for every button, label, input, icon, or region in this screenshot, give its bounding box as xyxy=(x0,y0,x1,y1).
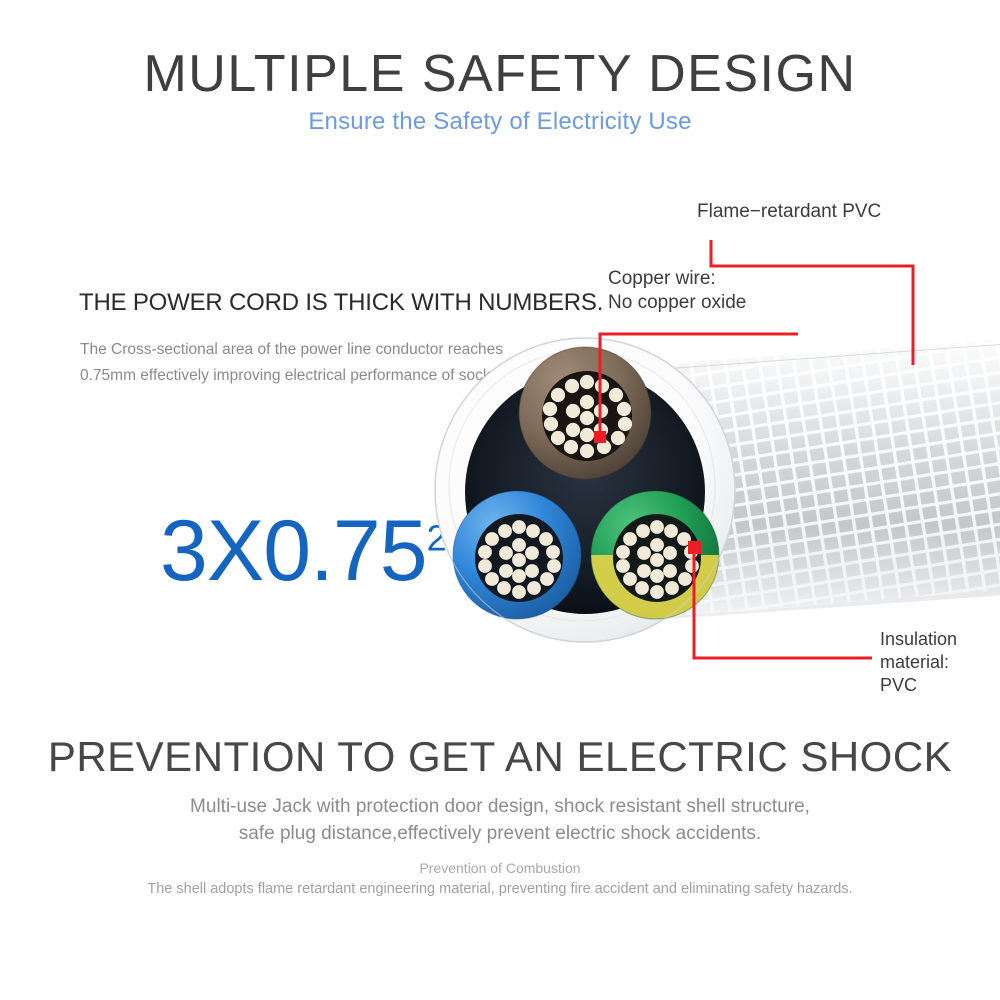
combustion-fine-title: Prevention of Combustion xyxy=(0,860,1000,876)
callout-label-insulation-material: Insulation material: PVC xyxy=(880,628,957,697)
callout-label-flame-retardant: Flame−retardant PVC xyxy=(697,200,881,224)
leader-line-copper xyxy=(600,334,798,437)
infographic-page: MULTIPLE SAFETY DESIGN Ensure the Safety… xyxy=(0,0,1000,1000)
leader-marker-insulation xyxy=(688,541,701,554)
callout-label-copper-wire: Copper wire: No copper oxide xyxy=(608,267,746,315)
combustion-fine-body: The shell adopts flame retardant enginee… xyxy=(0,881,1000,897)
prevention-heading: PREVENTION TO GET AN ELECTRIC SHOCK xyxy=(0,733,1000,781)
leader-marker-copper xyxy=(594,431,606,443)
callout-leader-lines xyxy=(0,0,1000,1000)
leader-line-insulation xyxy=(694,553,872,658)
prevention-body-text: Multi-use Jack with protection door desi… xyxy=(0,793,1000,847)
